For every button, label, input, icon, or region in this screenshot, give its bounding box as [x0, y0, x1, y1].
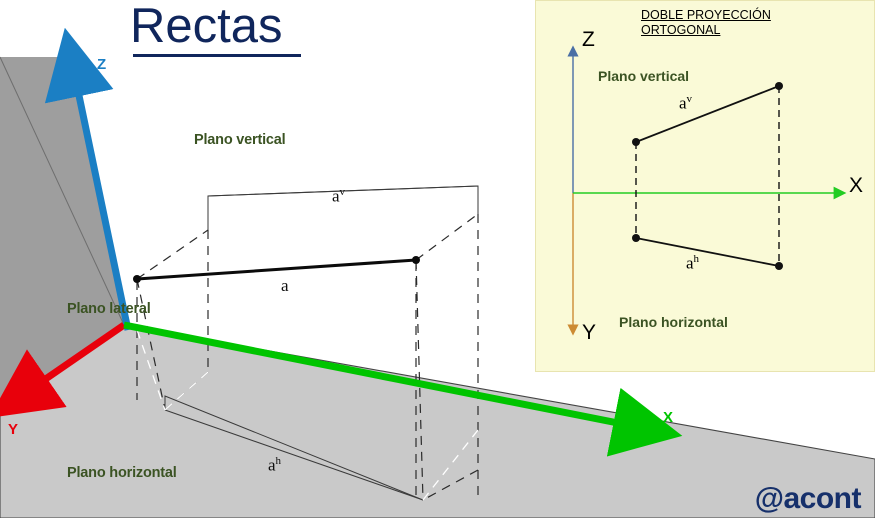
label-segment-av-sup: v	[340, 186, 346, 198]
label-plane-vertical-3d: Plano vertical	[194, 132, 286, 148]
page-title: Rectas	[130, 0, 283, 54]
panel-label-av-sup: v	[687, 93, 693, 105]
panel-label-plane-horizontal: Plano horizontal	[619, 314, 728, 330]
label-plane-horizontal-3d: Plano horizontal	[67, 465, 177, 481]
label-segment-ah-sup: h	[276, 455, 282, 467]
panel-ah-point-right	[775, 262, 783, 270]
panel-segment-av	[636, 86, 779, 142]
panel-ah-point-left	[632, 234, 640, 242]
panel-axis-label-x: X	[849, 174, 863, 198]
page-title-underline	[133, 54, 301, 57]
axis-label-x-3d: X	[663, 409, 673, 426]
panel-label-av-base: a	[679, 94, 687, 113]
panel-heading-line1: DOBLE PROYECCIÓN	[641, 8, 771, 23]
panel-label-ah-base: a	[686, 254, 694, 273]
panel-segment-ah	[636, 238, 779, 266]
panel-heading-line2: ORTOGONAL	[641, 23, 771, 38]
watermark: @acont	[755, 482, 861, 516]
segment-a-endpoint-right	[412, 256, 420, 264]
label-segment-ah-base: a	[268, 456, 276, 475]
axis-label-y-3d: Y	[8, 421, 18, 438]
panel-axis-label-y: Y	[582, 321, 596, 345]
panel-label-plane-vertical: Plano vertical	[598, 68, 689, 84]
label-segment-av-base: a	[332, 187, 340, 206]
panel-label-av: av	[679, 93, 692, 114]
panel-av-point-left	[632, 138, 640, 146]
label-plane-lateral-3d: Plano lateral	[67, 301, 151, 317]
panel-label-ah-sup: h	[694, 253, 700, 265]
panel-heading: DOBLE PROYECCIÓN ORTOGONAL	[641, 8, 771, 38]
panel-av-point-right	[775, 82, 783, 90]
diagram-canvas: Rectas Z Y X Plano vertical Plano latera…	[0, 0, 875, 518]
segment-a-endpoint-left	[133, 275, 141, 283]
panel-axis-label-z: Z	[582, 28, 595, 52]
label-segment-av: av	[332, 186, 345, 207]
segment-a	[137, 260, 416, 279]
orthogonal-projection-panel: DOBLE PROYECCIÓN ORTOGONAL Z Y X Plano v…	[535, 0, 875, 372]
label-segment-a: a	[281, 276, 289, 296]
panel-label-ah: ah	[686, 253, 699, 274]
axis-label-z-3d: Z	[97, 56, 106, 73]
label-segment-ah: ah	[268, 455, 281, 476]
